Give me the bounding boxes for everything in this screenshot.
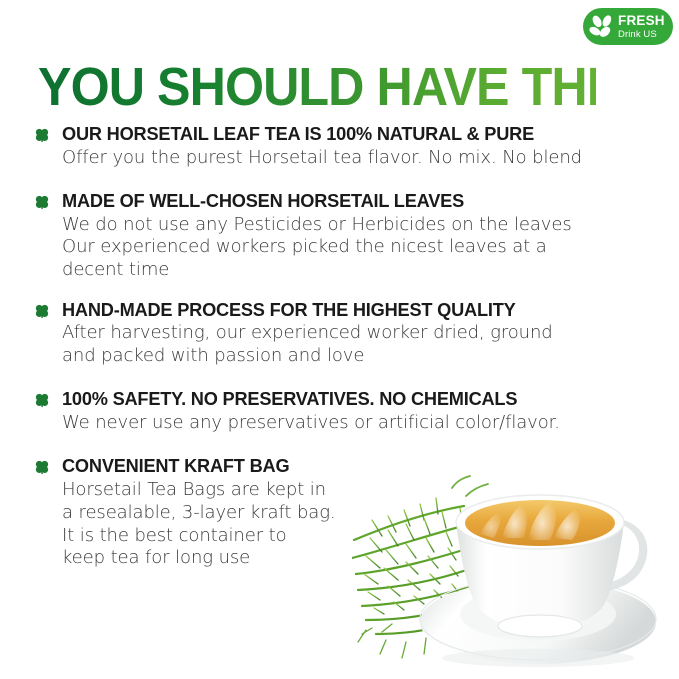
feature-item: 100% SAFETY. NO PRESERVATIVES. NO CHEMIC… [34, 389, 649, 435]
clover-icon [34, 392, 50, 408]
product-photo [352, 462, 679, 679]
feature-title: OUR HORSETAIL LEAF TEA IS 100% NATURAL &… [62, 124, 649, 145]
feature-body-line: We never use any preservatives or artifi… [62, 412, 649, 435]
feature-item: HAND-MADE PROCESS FOR THE HIGHEST QUALIT… [34, 300, 649, 368]
leaf-cluster-icon [587, 12, 617, 42]
feature-item: MADE OF WELL-CHOSEN HORSETAIL LEAVES We … [34, 191, 649, 282]
clover-icon [34, 194, 50, 210]
feature-title: 100% SAFETY. NO PRESERVATIVES. NO CHEMIC… [62, 389, 649, 410]
feature-body-line: Offer you the purest Horsetail tea flavo… [62, 147, 649, 170]
brand-subtitle: Drink US [618, 30, 665, 40]
brand-badge: FRESH Drink US [583, 8, 673, 45]
feature-body-line: We do not use any Pesticides or Herbicid… [62, 214, 649, 237]
feature-body: Offer you the purest Horsetail tea flavo… [62, 147, 649, 170]
feature-body-line: and packed with passion and love [62, 345, 649, 368]
feature-title: MADE OF WELL-CHOSEN HORSETAIL LEAVES [62, 191, 649, 212]
clover-icon [34, 303, 50, 319]
clover-icon [34, 459, 50, 475]
brand-name: FRESH [618, 14, 665, 28]
feature-body: We do not use any Pesticides or Herbicid… [62, 214, 649, 282]
feature-body-line: decent time [62, 259, 649, 282]
clover-icon [34, 127, 50, 143]
feature-body: After harvesting, our experienced worker… [62, 322, 649, 367]
feature-body-line: After harvesting, our experienced worker… [62, 322, 649, 345]
page-title: YOU SHOULD HAVE THIS! [38, 56, 596, 108]
feature-body-line: Our experienced workers picked the nices… [62, 236, 649, 259]
feature-title: HAND-MADE PROCESS FOR THE HIGHEST QUALIT… [62, 300, 649, 321]
feature-item: OUR HORSETAIL LEAF TEA IS 100% NATURAL &… [34, 124, 649, 170]
feature-body: We never use any preservatives or artifi… [62, 412, 649, 435]
